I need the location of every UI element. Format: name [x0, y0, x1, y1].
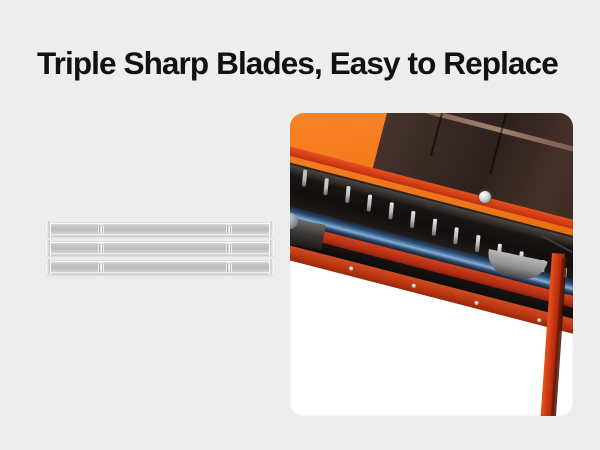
product-feature-banner: Triple Sharp Blades, Easy to Replace	[0, 0, 600, 450]
bolt-icon	[411, 283, 416, 288]
bolt-icon	[349, 266, 354, 271]
blade-face	[51, 242, 269, 254]
blade-hole-icon	[227, 225, 231, 234]
drum-blade-slot	[388, 202, 394, 219]
drum-blade-slot	[453, 227, 459, 244]
drum-blade-slot	[432, 219, 438, 236]
bolt-icon	[290, 249, 291, 254]
blade-hole-icon	[99, 244, 103, 253]
bolt-icon	[537, 318, 542, 323]
triple-blade-set	[46, 221, 274, 275]
product-photo	[290, 113, 573, 416]
blade-hole-icon	[227, 263, 231, 272]
blade-hole-icon	[227, 244, 231, 253]
bolt-icon	[474, 301, 479, 306]
blade-hole-icon	[99, 263, 103, 272]
page-title: Triple Sharp Blades, Easy to Replace	[37, 45, 577, 81]
drum-blade-slot	[475, 235, 481, 252]
blade-3	[46, 259, 274, 275]
blade-face	[51, 223, 269, 235]
blade-face	[51, 261, 269, 273]
drum-blade-slot	[410, 211, 416, 228]
blade-2	[46, 240, 274, 256]
screw-head-icon	[479, 191, 491, 203]
drum-blade-slot	[367, 195, 373, 212]
blade-hole-icon	[99, 225, 103, 234]
blade-1	[46, 221, 274, 237]
